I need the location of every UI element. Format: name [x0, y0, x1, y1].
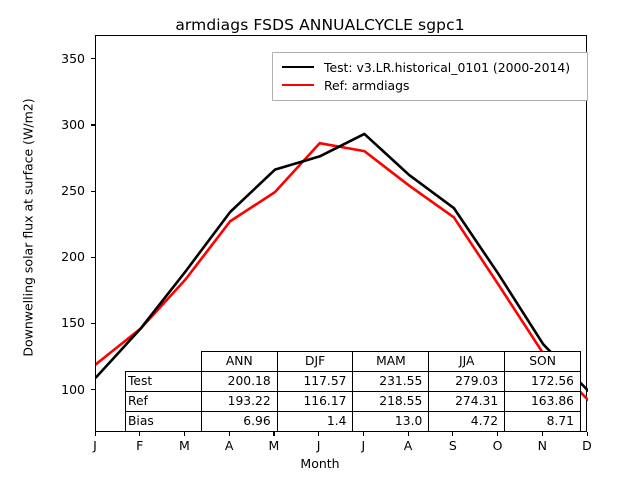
table-column-header: JJA [429, 352, 505, 372]
y-tick-mark [91, 257, 95, 258]
table-cell: 1.4 [277, 412, 353, 432]
table-cell: 231.55 [353, 372, 429, 392]
table-row: Bias6.961.413.04.728.71 [126, 412, 581, 432]
y-tick-label: 250 [39, 183, 85, 198]
legend-label-test: Test: v3.LR.historical_0101 (2000-2014) [324, 60, 570, 75]
y-axis-label: Downwelling solar flux at surface (W/m2) [21, 28, 36, 428]
x-tick-label: J [304, 438, 334, 453]
x-tick-mark [95, 432, 96, 436]
table-column-header: DJF [277, 352, 353, 372]
legend-label-ref: Ref: armdiags [324, 78, 409, 93]
table-cell: 193.22 [201, 392, 277, 412]
y-tick-label: 300 [39, 117, 85, 132]
y-tick-label: 150 [39, 315, 85, 330]
table-cell: 116.17 [277, 392, 353, 412]
chart-figure: armdiags FSDS ANNUALCYCLE sgpc1 Downwell… [0, 0, 640, 480]
x-tick-label: F [125, 438, 155, 453]
table-row: Test200.18117.57231.55279.03172.56 [126, 372, 581, 392]
table-cell: 218.55 [353, 392, 429, 412]
x-tick-label: O [483, 438, 513, 453]
x-tick-mark [318, 432, 319, 436]
table-cell: 200.18 [201, 372, 277, 392]
x-tick-label: A [393, 438, 423, 453]
table-cell: 117.57 [277, 372, 353, 392]
y-tick-mark [91, 124, 95, 125]
statistics-table: ANNDJFMAMJJASONTest200.18117.57231.55279… [125, 351, 581, 432]
y-tick-label: 200 [39, 249, 85, 264]
table-header-row: ANNDJFMAMJJASON [126, 352, 581, 372]
x-tick-label: N [527, 438, 557, 453]
x-tick-mark [229, 432, 230, 436]
table-row: Ref193.22116.17218.55274.31163.86 [126, 392, 581, 412]
table-cell: 163.86 [505, 392, 581, 412]
x-tick-mark [408, 432, 409, 436]
x-tick-mark [542, 432, 543, 436]
legend-item-test: Test: v3.LR.historical_0101 (2000-2014) [282, 58, 578, 76]
x-axis-label: Month [0, 456, 640, 471]
x-tick-label: A [214, 438, 244, 453]
table-row-label: Test [126, 372, 202, 392]
legend-item-ref: Ref: armdiags [282, 76, 578, 94]
x-tick-label: J [348, 438, 378, 453]
legend: Test: v3.LR.historical_0101 (2000-2014) … [272, 52, 588, 101]
y-tick-label: 100 [39, 382, 85, 397]
table-cell: 8.71 [505, 412, 581, 432]
chart-title: armdiags FSDS ANNUALCYCLE sgpc1 [0, 16, 640, 34]
x-tick-mark [587, 432, 588, 436]
x-tick-mark [497, 432, 498, 436]
y-tick-mark [91, 389, 95, 390]
x-tick-label: M [169, 438, 199, 453]
table-cell: 274.31 [429, 392, 505, 412]
table-corner-cell [126, 352, 202, 372]
table-column-header: SON [505, 352, 581, 372]
x-tick-mark [273, 432, 274, 436]
table-row-label: Ref [126, 392, 202, 412]
table-column-header: ANN [201, 352, 277, 372]
table-cell: 4.72 [429, 412, 505, 432]
x-tick-label: S [438, 438, 468, 453]
table-cell: 13.0 [353, 412, 429, 432]
x-tick-mark [363, 432, 364, 436]
x-tick-mark [184, 432, 185, 436]
x-tick-label: J [80, 438, 110, 453]
y-tick-label: 350 [39, 51, 85, 66]
x-tick-mark [139, 432, 140, 436]
table-cell: 6.96 [201, 412, 277, 432]
table-column-header: MAM [353, 352, 429, 372]
legend-swatch-ref [282, 84, 314, 86]
y-tick-mark [91, 323, 95, 324]
x-tick-label: M [259, 438, 289, 453]
table-cell: 279.03 [429, 372, 505, 392]
table-cell: 172.56 [505, 372, 581, 392]
x-tick-label: D [572, 438, 602, 453]
table-row-label: Bias [126, 412, 202, 432]
y-tick-mark [91, 191, 95, 192]
y-tick-mark [91, 58, 95, 59]
legend-swatch-test [282, 66, 314, 68]
x-tick-mark [452, 432, 453, 436]
